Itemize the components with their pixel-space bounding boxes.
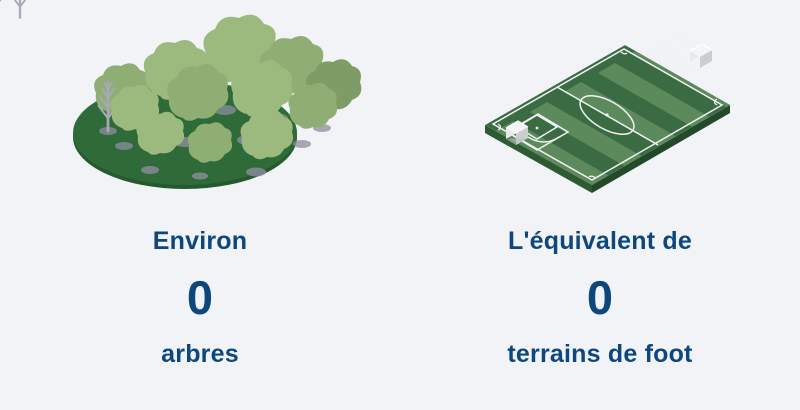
- caption-value: 0: [0, 274, 400, 321]
- infographic-stage: Environ 0 arbres: [0, 0, 800, 410]
- forest-trees-illustration: [0, 0, 400, 205]
- caption-top-label: L'équivalent de: [400, 229, 800, 254]
- caption-value: 0: [400, 274, 800, 321]
- caption-pitch: L'équivalent de 0 terrains de foot: [400, 205, 800, 367]
- goal-far: [690, 44, 712, 68]
- caption-trees: Environ 0 arbres: [0, 205, 400, 367]
- panel-trees: Environ 0 arbres: [0, 0, 400, 410]
- panel-pitch: L'équivalent de 0 terrains de foot: [400, 0, 800, 410]
- caption-top-label: Environ: [0, 229, 400, 254]
- caption-bottom-label: terrains de foot: [400, 342, 800, 367]
- caption-bottom-label: arbres: [0, 342, 400, 367]
- football-pitch-illustration: [400, 0, 800, 205]
